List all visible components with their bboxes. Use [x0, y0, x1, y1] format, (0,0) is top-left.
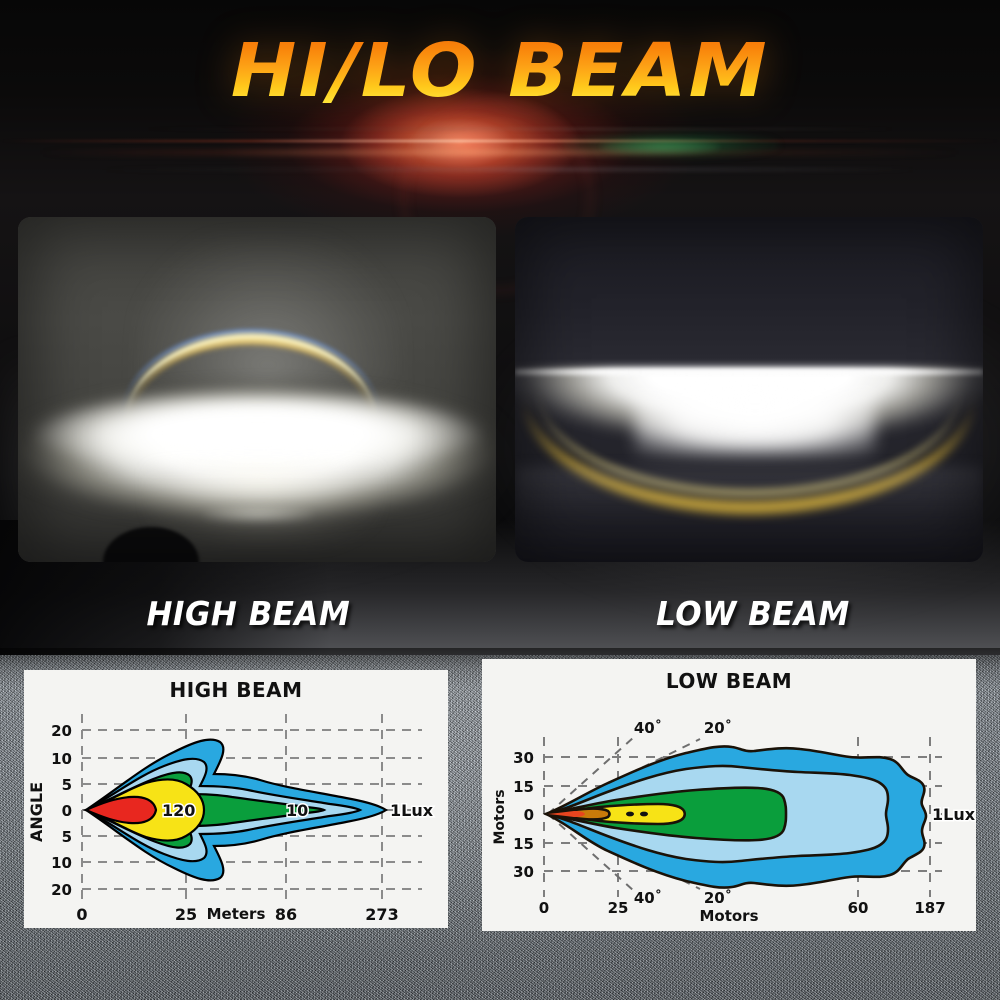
svg-text:5: 5	[62, 828, 72, 846]
low-beam-x-axis-title: Motors	[482, 907, 976, 925]
svg-text:15: 15	[513, 778, 534, 796]
high-beam-x-axis-title: Meters	[24, 905, 448, 923]
svg-text:0: 0	[62, 802, 72, 820]
svg-text:15: 15	[513, 835, 534, 853]
high-beam-caption: HIGH BEAM	[147, 594, 351, 633]
svg-text:0: 0	[524, 806, 534, 824]
high-beam-vignette	[18, 217, 496, 562]
low-beam-chart: LOW BEAM	[482, 659, 976, 931]
low-beam-y-axis-label: Motors	[492, 789, 508, 844]
svg-text:10: 10	[51, 750, 72, 768]
product-banner: HI/LO BEAM HIGH BEAM LOW BEAM HIGH BEAM	[0, 0, 1000, 1000]
svg-text:30: 30	[513, 863, 534, 881]
low-beam-chart-svg: 30 15 0 15 30 Motors 0 25 60 187 40˚ 20˚…	[482, 659, 976, 931]
low-beam-photo	[515, 217, 983, 562]
low-beam-caption: LOW BEAM	[656, 594, 850, 633]
high-beam-y-axis-label: ANGLE	[27, 782, 46, 842]
svg-text:10: 10	[51, 854, 72, 872]
title-container: HI/LO BEAM	[0, 28, 1000, 114]
svg-text:20˚: 20˚	[704, 719, 732, 737]
page-title: HI/LO BEAM	[231, 28, 769, 114]
high-beam-y-ticks: 20 10 5 0 5 10 20	[51, 722, 72, 899]
svg-text:40˚: 40˚	[634, 719, 662, 737]
svg-text:20: 20	[51, 722, 72, 740]
svg-text:30: 30	[513, 749, 534, 767]
svg-text:120: 120	[162, 801, 195, 820]
low-beam-vignette	[515, 217, 983, 562]
svg-text:40˚: 40˚	[634, 889, 662, 907]
low-beam-contours	[546, 746, 926, 887]
svg-text:5: 5	[62, 776, 72, 794]
high-beam-contours	[86, 740, 386, 881]
high-beam-chart: HIGH BEAM	[24, 670, 448, 928]
svg-text:10: 10	[286, 801, 308, 820]
svg-text:20: 20	[51, 881, 72, 899]
high-beam-chart-svg: 20 10 5 0 5 10 20 ANGLE 0 25 86 273 Mete…	[24, 670, 448, 928]
low-beam-y-ticks: 30 15 0 15 30	[513, 749, 534, 881]
svg-text:1Lux: 1Lux	[390, 801, 434, 820]
low-beam-contour-label-1lux: 1Lux	[932, 805, 976, 824]
high-beam-photo	[18, 217, 496, 562]
svg-text:20˚: 20˚	[704, 889, 732, 907]
